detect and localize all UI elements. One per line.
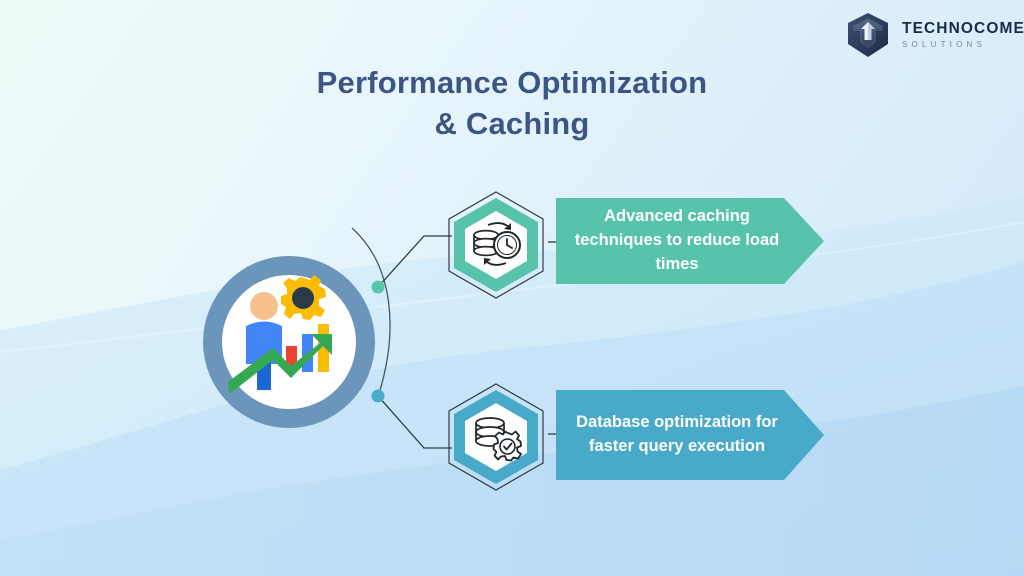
node-icon-database-optimization[interactable] (444, 382, 548, 492)
banner-advanced-caching[interactable]: Advanced caching techniques to reduce lo… (556, 198, 824, 284)
banner-text: Database optimization for faster query e… (574, 411, 780, 459)
banner-database-optimization[interactable]: Database optimization for faster query e… (556, 390, 824, 480)
node-icon-advanced-caching[interactable] (444, 190, 548, 300)
slide-canvas: TECHNOCOMET SOLUTIONS Performance Optimi… (0, 0, 1024, 576)
banner-text: Advanced caching techniques to reduce lo… (574, 205, 780, 276)
business-growth-analytics-icon (201, 254, 377, 430)
database-clock-refresh-icon (444, 190, 548, 300)
database-gear-check-icon (444, 382, 548, 492)
